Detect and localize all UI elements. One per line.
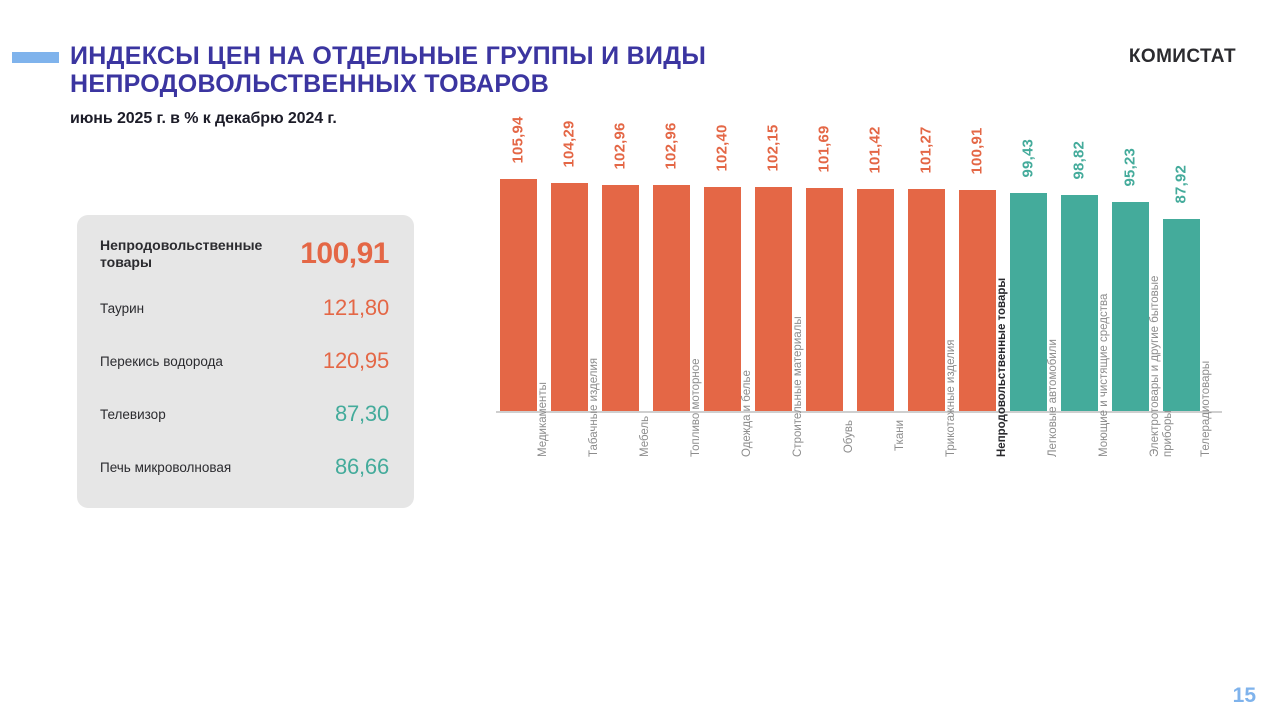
chart-plot-area: 105,94104,29102,96102,96102,40102,15101,… xyxy=(492,170,1232,412)
brand-logo: КОМИСТАТ xyxy=(1129,46,1236,68)
chart-category-label: Обувь xyxy=(843,420,856,457)
chart-bar-rect xyxy=(602,185,639,412)
chart-bar xyxy=(1010,170,1047,412)
page-number: 15 xyxy=(1233,684,1256,708)
chart-bar-value-label: 102,15 xyxy=(765,135,783,172)
chart-category-label: Табачные изделия xyxy=(588,420,601,457)
summary-row-value: 100,91 xyxy=(300,237,389,271)
chart-bar-value-label: 99,43 xyxy=(1020,141,1038,178)
chart-bar-value-label: 101,42 xyxy=(867,137,885,174)
chart-bar xyxy=(653,170,690,412)
chart-bar-value-label: 98,82 xyxy=(1071,143,1089,180)
chart-bar xyxy=(500,170,537,412)
chart-bar-rect xyxy=(551,183,588,412)
summary-row-label: Перекись водорода xyxy=(100,353,223,370)
chart-category-label: Трикотажные изделия xyxy=(945,420,958,457)
chart-baseline-axis xyxy=(496,411,1222,413)
summary-row-label: Таурин xyxy=(100,300,144,317)
page-title-line-1: ИНДЕКСЫ ЦЕН НА ОТДЕЛЬНЫЕ ГРУППЫ И ВИДЫ xyxy=(70,42,930,70)
summary-row-value: 87,30 xyxy=(335,401,389,427)
summary-row-value: 121,80 xyxy=(323,295,389,321)
chart-bar-rect xyxy=(1112,202,1149,412)
summary-row-label: Непродовольственные товары xyxy=(100,237,260,271)
chart-bar-value-label: 102,96 xyxy=(663,133,681,170)
chart-category-label: Строительные материалы xyxy=(792,420,805,457)
chart-category-label: Электротовары и другие бытовые приборы xyxy=(1149,420,1175,457)
chart-category-label: Телерадиотовары xyxy=(1200,420,1213,457)
chart-bar-value-label: 101,69 xyxy=(816,136,834,173)
chart-bar-value-label: 102,40 xyxy=(714,135,732,172)
summary-row: Телевизор87,30 xyxy=(100,401,389,427)
chart-bar xyxy=(1163,170,1200,412)
chart-bar xyxy=(602,170,639,412)
chart-bar-value-label: 105,94 xyxy=(510,127,528,164)
chart-bar-rect xyxy=(857,189,894,412)
chart-bar-value-label: 104,29 xyxy=(561,131,579,168)
chart-bar xyxy=(704,170,741,412)
chart-bar-value-label: 95,23 xyxy=(1122,150,1140,187)
chart-category-label: Мебель xyxy=(639,420,652,457)
chart-category-label: Топливо моторное xyxy=(690,420,703,457)
chart-bar xyxy=(857,170,894,412)
summary-row-label: Печь микроволновая xyxy=(100,459,231,476)
chart-bar-value-label: 87,92 xyxy=(1173,167,1191,204)
chart-category-label: Легковые автомобили xyxy=(1047,420,1060,457)
page-title: ИНДЕКСЫ ЦЕН НА ОТДЕЛЬНЫЕ ГРУППЫ И ВИДЫ Н… xyxy=(70,42,930,98)
chart-bar-rect xyxy=(704,187,741,412)
summary-row: Таурин121,80 xyxy=(100,295,389,321)
page-title-line-2: НЕПРОДОВОЛЬСТВЕННЫХ ТОВАРОВ xyxy=(70,70,930,98)
chart-bar-value-label: 101,27 xyxy=(918,137,936,174)
chart-bar xyxy=(1061,170,1098,412)
summary-row-value: 86,66 xyxy=(335,454,389,480)
summary-row-label: Телевизор xyxy=(100,406,166,423)
chart-bar-rect xyxy=(653,185,690,412)
chart-category-label: Одежда и белье xyxy=(741,420,754,457)
chart-bar-rect xyxy=(908,189,945,412)
chart-bar-rect xyxy=(1061,195,1098,412)
bar-chart: 105,94104,29102,96102,96102,40102,15101,… xyxy=(492,170,1232,660)
chart-bar xyxy=(908,170,945,412)
chart-bar xyxy=(1112,170,1149,412)
chart-bar-rect xyxy=(1010,193,1047,412)
summary-row: Перекись водорода120,95 xyxy=(100,348,389,374)
summary-card: Непродовольственные товары100,91Таурин12… xyxy=(77,215,414,508)
chart-bar xyxy=(806,170,843,412)
chart-bar-rect xyxy=(500,179,537,412)
chart-bar-value-label: 100,91 xyxy=(969,138,987,175)
page-subtitle: июнь 2025 г. в % к декабрю 2024 г. xyxy=(70,110,337,128)
summary-row-value: 120,95 xyxy=(323,348,389,374)
chart-bar-value-label: 102,96 xyxy=(612,133,630,170)
chart-bar-rect xyxy=(1163,219,1200,412)
chart-bar-rect xyxy=(806,188,843,412)
chart-category-label: Моющие и чистящие средства xyxy=(1098,420,1111,457)
summary-row: Непродовольственные товары100,91 xyxy=(100,237,389,271)
chart-bar-rect xyxy=(755,187,792,412)
chart-category-label: Ткани xyxy=(894,420,907,457)
chart-bar xyxy=(551,170,588,412)
chart-category-label: Медикаменты xyxy=(537,420,550,457)
chart-bar xyxy=(755,170,792,412)
chart-bar-rect xyxy=(959,190,996,412)
chart-bar xyxy=(959,170,996,412)
chart-category-label: Непродовольственные товары xyxy=(996,420,1009,457)
title-accent-dash xyxy=(12,52,59,63)
summary-row: Печь микроволновая86,66 xyxy=(100,454,389,480)
